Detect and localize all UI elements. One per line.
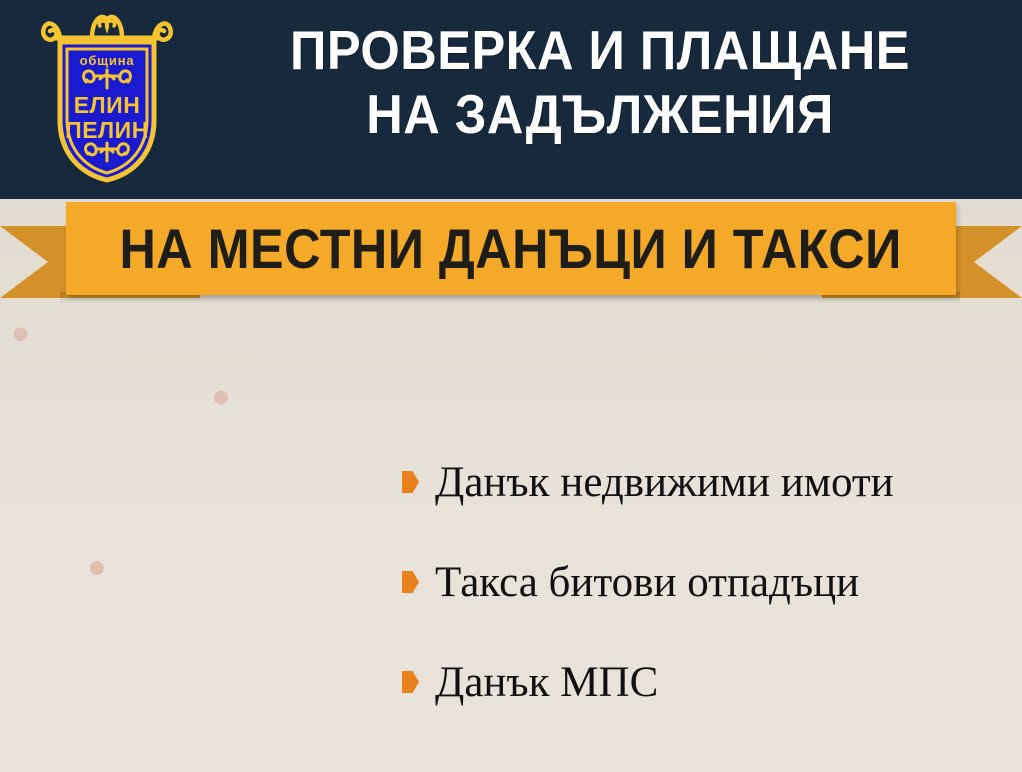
list-item[interactable]: Данък недвижими имоти bbox=[402, 432, 1012, 532]
crest-text-top: община bbox=[80, 53, 135, 68]
arrow-bullet-icon bbox=[402, 471, 419, 493]
list-item[interactable]: Такса битови отпадъци bbox=[402, 532, 1012, 632]
list-item-label: Такса битови отпадъци bbox=[435, 561, 859, 604]
page-title: ПРОВЕРКА И ПЛАЩАНЕ НА ЗАДЪЛЖЕНИЯ bbox=[223, 18, 977, 147]
page-title-line-2: НА ЗАДЪЛЖЕНИЯ bbox=[223, 82, 977, 146]
stamp-card-house bbox=[13, 309, 231, 525]
poster-root: община ЕЛИН ПЕЛИН bbox=[0, 0, 1022, 772]
list-item[interactable]: Данък МПС bbox=[402, 632, 1012, 732]
ribbon-label: НА МЕСТНИ ДАНЪЦИ И ТАКСИ bbox=[120, 221, 902, 277]
tax-type-list: Данък недвижими имоти Такса битови отпад… bbox=[402, 432, 1012, 732]
page-title-line-1: ПРОВЕРКА И ПЛАЩАНЕ bbox=[223, 18, 977, 82]
stamp-face-car bbox=[107, 537, 306, 736]
house-icon bbox=[57, 356, 187, 479]
car-front-icon bbox=[135, 572, 279, 701]
stamp-face-house bbox=[30, 326, 213, 507]
ribbon-banner: НА МЕСТНИ ДАНЪЦИ И ТАКСИ bbox=[66, 202, 956, 295]
crest-text-bottom: ПЕЛИН bbox=[65, 117, 149, 143]
list-item-label: Данък недвижими имоти bbox=[435, 461, 894, 504]
arrow-bullet-icon bbox=[402, 671, 419, 693]
header-band: община ЕЛИН ПЕЛИН bbox=[0, 0, 1022, 199]
crest-text-mid: ЕЛИН bbox=[74, 92, 141, 118]
arrow-bullet-icon bbox=[402, 571, 419, 593]
subtitle-ribbon: НА МЕСТНИ ДАНЪЦИ И ТАКСИ bbox=[0, 200, 1022, 305]
coat-of-arms-crest: община ЕЛИН ПЕЛИН bbox=[34, 8, 180, 186]
list-item-label: Данък МПС bbox=[435, 661, 658, 704]
